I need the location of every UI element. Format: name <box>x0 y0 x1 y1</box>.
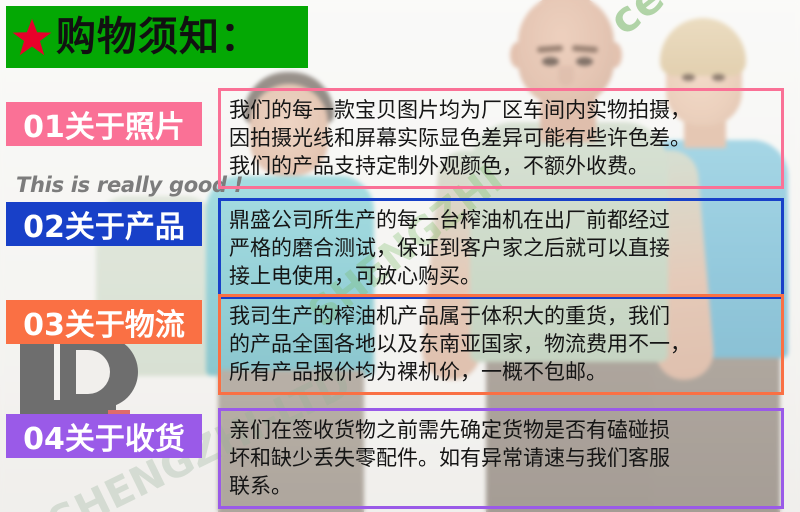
section-tag-logistics: 03关于物流 <box>6 300 202 344</box>
section-body-text: 鼎盛公司所生产的每一台榨油机在出厂前都经过 严格的磨合测试，保证到客户家之后就可… <box>229 206 773 290</box>
header-banner: 购物须知： <box>6 6 308 68</box>
section-body-logistics: 我司生产的榨油机产品属于体积大的重货，我们 的产品全国各地以及东南亚国家，物流费… <box>218 294 784 395</box>
section-tag-receiving: 04关于收货 <box>6 414 202 458</box>
red-star-icon <box>12 18 52 56</box>
section-body-text: 我司生产的榨油机产品属于体积大的重货，我们 的产品全国各地以及东南亚国家，物流费… <box>229 302 773 386</box>
section-body-text: 亲们在签收货物之前需先确定货物是否有磕碰损 坏和缺少丢失零配件。如有异常请速与我… <box>229 416 773 500</box>
section-tag-photos: 01关于照片 <box>6 102 202 146</box>
section-tag-product: 02关于产品 <box>6 202 202 246</box>
shopping-notice-banner: ce8-LTD SHENGZHI SHENGZHI-LTD 购物须知： This… <box>0 0 800 512</box>
page-title: 购物须知： <box>56 17 261 57</box>
ld-logo <box>20 336 138 420</box>
english-watermark-text: This is really good ! <box>16 173 243 197</box>
section-body-product: 鼎盛公司所生产的每一台榨油机在出厂前都经过 严格的磨合测试，保证到客户家之后就可… <box>218 198 784 299</box>
section-body-receiving: 亲们在签收货物之前需先确定货物是否有磕碰损 坏和缺少丢失零配件。如有异常请速与我… <box>218 408 784 509</box>
section-body-photos: 我们的每一款宝贝图片均为厂区车间内实物拍摄， 因拍摄光线和屏幕实际显色差异可能有… <box>218 88 784 189</box>
section-body-text: 我们的每一款宝贝图片均为厂区车间内实物拍摄， 因拍摄光线和屏幕实际显色差异可能有… <box>229 96 773 180</box>
